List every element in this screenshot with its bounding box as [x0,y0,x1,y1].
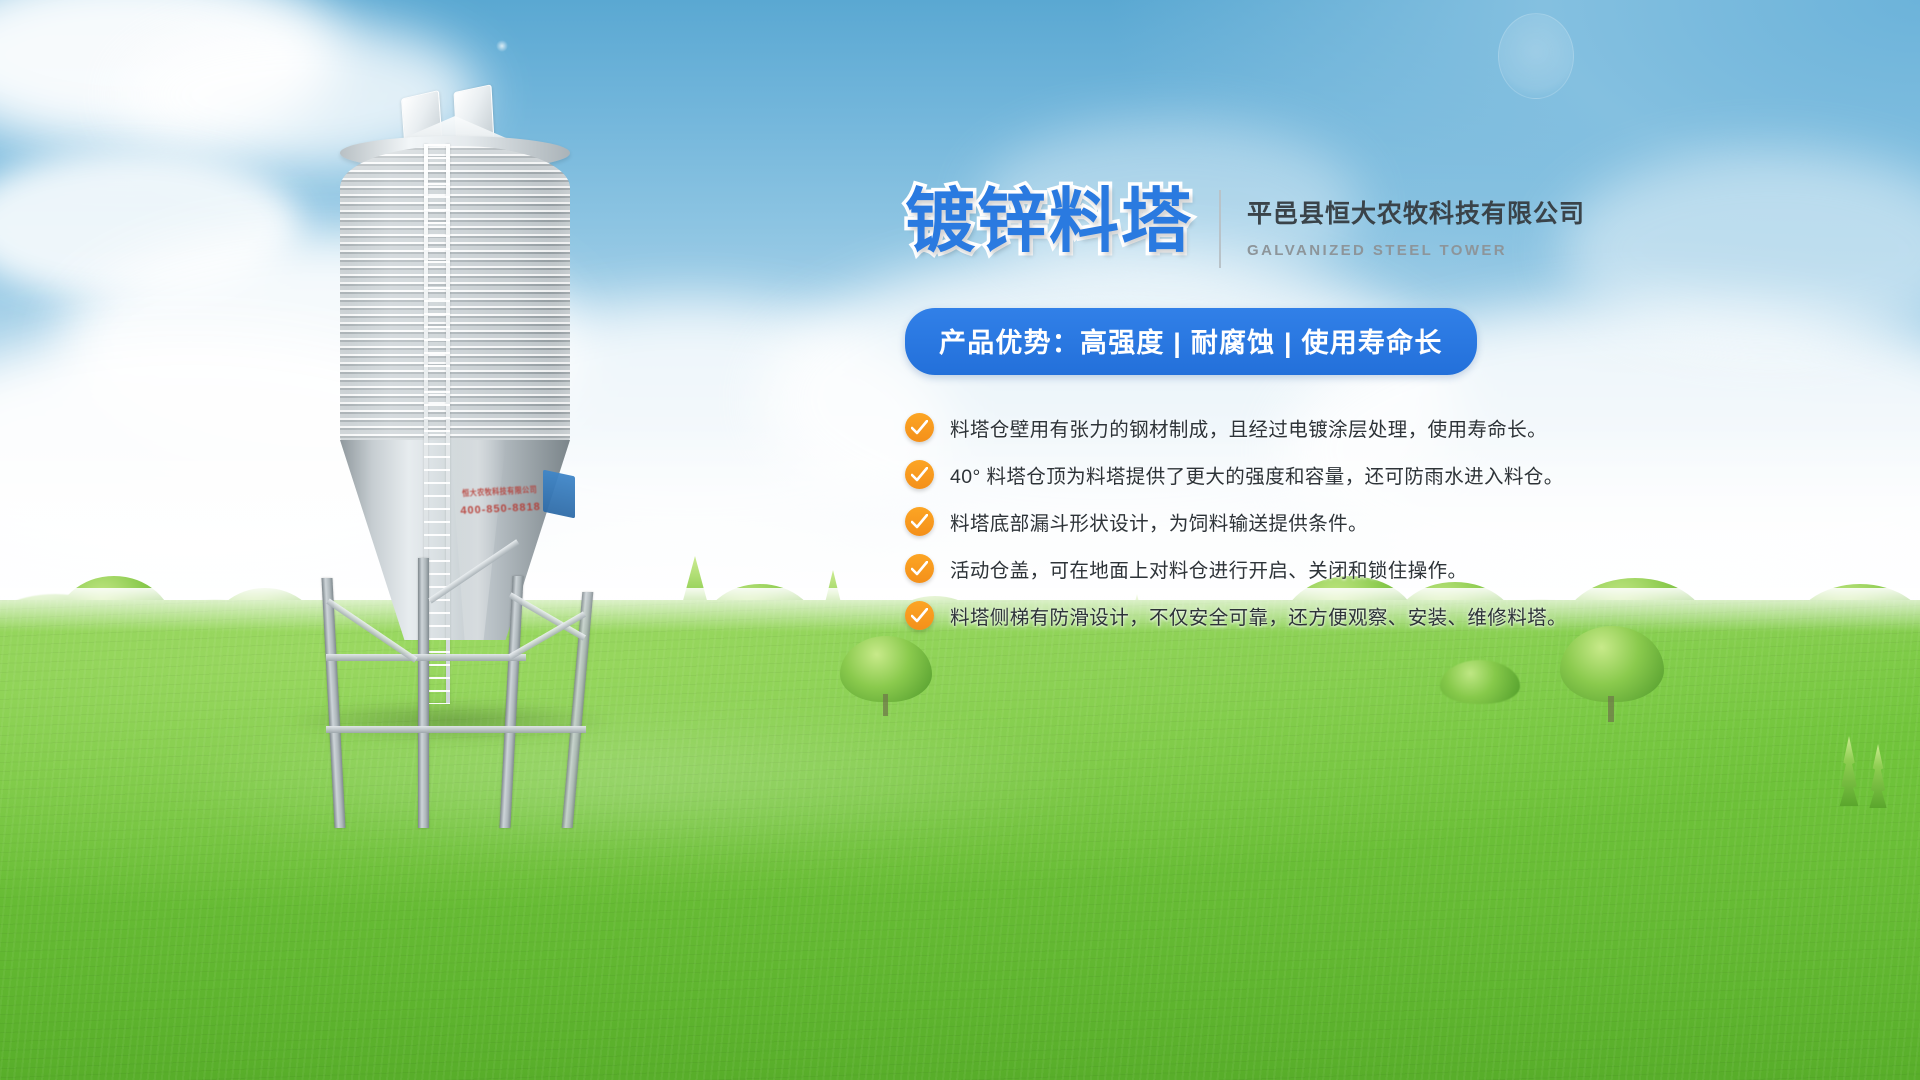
check-circle-icon [905,413,934,442]
feature-text: 料塔底部漏斗形状设计，为饲料输送提供条件。 [950,507,1368,536]
check-circle-icon [905,601,934,630]
check-circle-icon [905,554,934,583]
silo-leg [499,576,523,828]
feature-text: 料塔侧梯有防滑设计，不仅安全可靠，还方便观察、安装、维修料塔。 [950,601,1567,630]
feature-text: 料塔仓壁用有张力的钢材制成，且经过电镀涂层处理，使用寿命长。 [950,413,1547,442]
lens-flare-dot-icon [496,40,508,52]
silo-corrugated-body [340,146,570,446]
feature-list: 料塔仓壁用有张力的钢材制成，且经过电镀涂层处理，使用寿命长。 40° 料塔仓顶为… [905,413,1645,630]
list-item: 料塔底部漏斗形状设计，为饲料输送提供条件。 [905,507,1645,536]
title-divider [1219,190,1221,268]
feature-text: 40° 料塔仓顶为料塔提供了更大的强度和容量，还可防雨水进入料仓。 [950,460,1564,489]
silo-blue-outlet-chute [543,470,575,519]
title-row: 镀锌料塔 平邑县恒大农牧科技有限公司 GALVANIZED STEEL TOWE… [905,186,1645,268]
product-subtitle-en: GALVANIZED STEEL TOWER [1247,242,1585,259]
feature-text: 活动仓盖，可在地面上对料仓进行开启、关闭和锁住操作。 [950,554,1467,583]
list-item: 40° 料塔仓顶为料塔提供了更大的强度和容量，还可防雨水进入料仓。 [905,460,1645,489]
check-circle-icon [905,460,934,489]
list-item: 活动仓盖，可在地面上对料仓进行开启、关闭和锁住操作。 [905,554,1645,583]
check-circle-icon [905,507,934,536]
silo-cross-brace [326,726,586,733]
marketing-banner: 恒大农牧科技有限公司 400-850-8818 镀锌料塔 [0,0,1920,1080]
lens-flare-circle-icon [1498,13,1574,99]
list-item: 料塔仓壁用有张力的钢材制成，且经过电镀涂层处理，使用寿命长。 [905,413,1645,442]
silo-support-legs [310,558,600,828]
advantage-badge: 产品优势：高强度 | 耐腐蚀 | 使用寿命长 [905,308,1477,375]
banner-content: 镀锌料塔 平邑县恒大农牧科技有限公司 GALVANIZED STEEL TOWE… [905,186,1645,648]
tree-trunk [1608,696,1614,722]
silo-cross-brace [326,654,526,661]
silo-leg [321,578,345,828]
tree-trunk [883,694,888,716]
galvanized-feed-silo: 恒大农牧科技有限公司 400-850-8818 [300,88,610,748]
brand-block: 平邑县恒大农牧科技有限公司 GALVANIZED STEEL TOWER [1247,186,1585,259]
company-name: 平邑县恒大农牧科技有限公司 [1247,194,1585,230]
advantage-badge-label: 产品优势：高强度 | 耐腐蚀 | 使用寿命长 [939,328,1443,358]
page-title: 镀锌料塔 [905,186,1193,256]
list-item: 料塔侧梯有防滑设计，不仅安全可靠，还方便观察、安装、维修料塔。 [905,601,1645,630]
bush-foreground [1440,660,1520,704]
